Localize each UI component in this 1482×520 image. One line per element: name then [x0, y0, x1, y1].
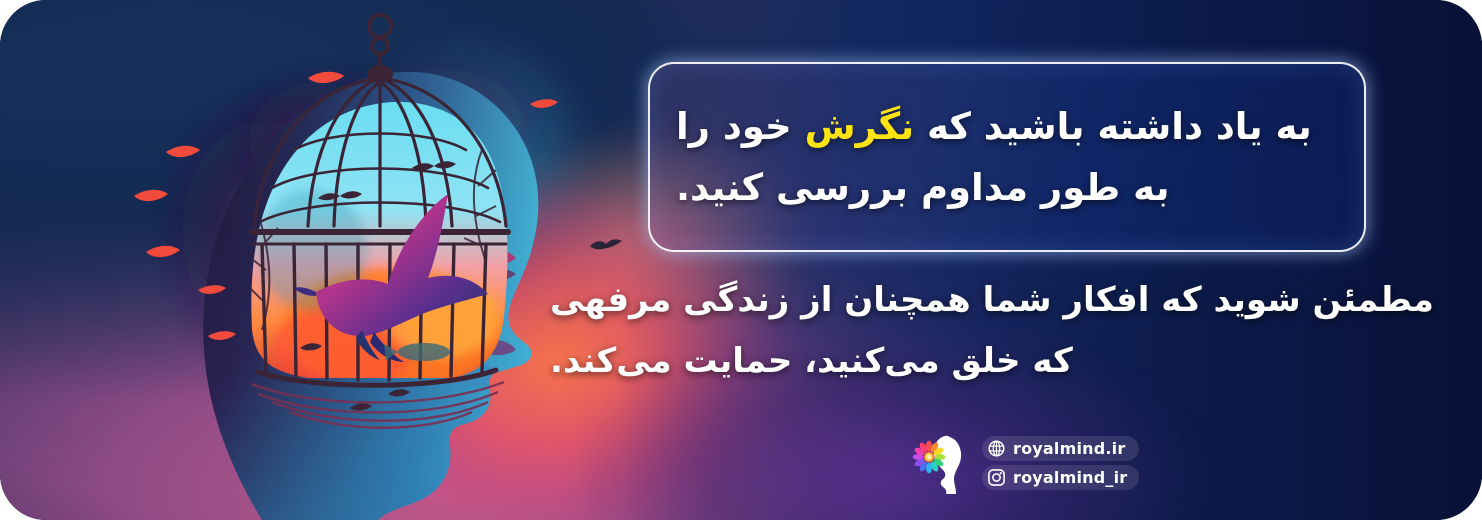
instagram-handle-label: royalmind_ir	[1013, 468, 1127, 487]
instagram-handle[interactable]: royalmind_ir	[982, 465, 1139, 490]
website-handle-label: royalmind.ir	[1013, 439, 1125, 458]
paragraph-line-1: مطمئن شوید که افکار شما همچنان از زندگی …	[550, 276, 1434, 325]
quote-box: به یاد داشته باشید که نگرش خود را به طور…	[648, 62, 1366, 252]
quote-line-1-before: به یاد داشته باشید که	[914, 105, 1312, 148]
promo-banner: به یاد داشته باشید که نگرش خود را به طور…	[0, 0, 1482, 520]
brand-footer: royalmind.ir royalmind_ir	[912, 432, 1139, 494]
royalmind-head-logo	[912, 432, 970, 494]
quote-line-1: به یاد داشته باشید که نگرش خود را	[676, 99, 1312, 155]
paragraph-line-2: که خلق می‌کنید، حمایت می‌کند.	[550, 337, 1073, 386]
social-handles: royalmind.ir royalmind_ir	[982, 436, 1139, 490]
instagram-icon	[987, 468, 1006, 487]
body-paragraph: مطمئن شوید که افکار شما همچنان از زندگی …	[550, 276, 1390, 387]
quote-highlight-word: نگرش	[805, 105, 914, 148]
quote-line-1-after: خود را	[676, 105, 805, 148]
website-handle[interactable]: royalmind.ir	[982, 436, 1139, 461]
quote-line-2: به طور مداوم بررسی کنید.	[676, 160, 1169, 216]
globe-icon	[987, 439, 1006, 458]
